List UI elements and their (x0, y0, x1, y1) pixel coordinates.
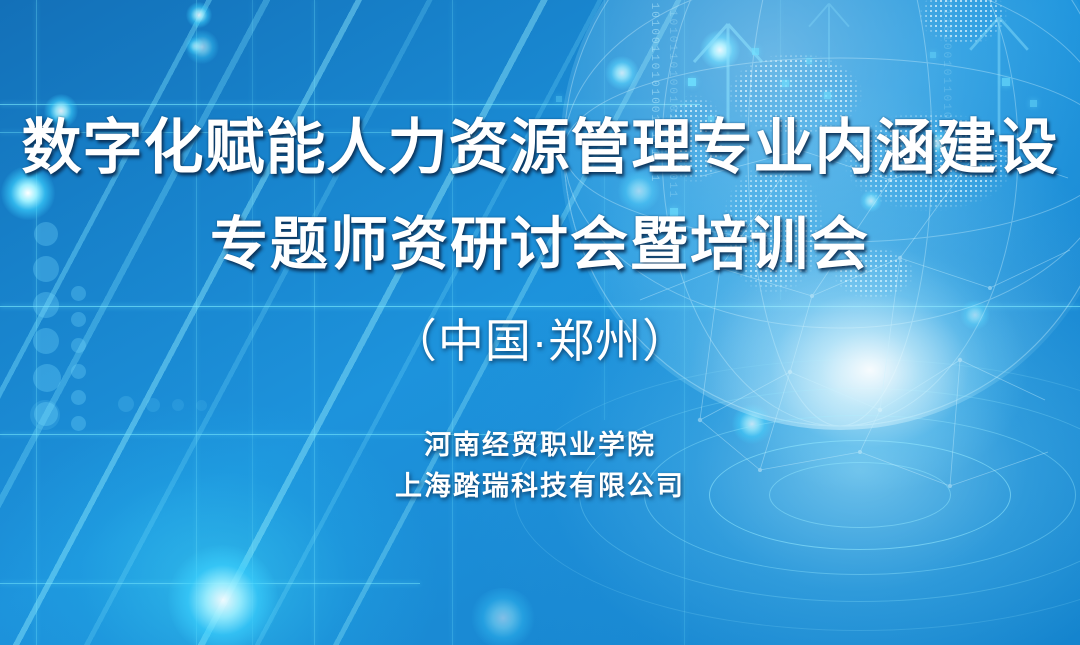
poster-text-content: 数字化赋能人力资源管理专业内涵建设 专题师资研讨会暨培训会 （中国·郑州） 河南… (0, 0, 1080, 645)
conference-poster: 0101001101010010101101 10101101001011010… (0, 0, 1080, 645)
poster-title-line-1: 数字化赋能人力资源管理专业内涵建设 (22, 118, 1059, 178)
organizer-list: 河南经贸职业学院 上海踏瑞科技有限公司 (395, 430, 685, 502)
organizer-name: 上海踏瑞科技有限公司 (395, 471, 685, 502)
organizer-name: 河南经贸职业学院 (424, 430, 656, 461)
poster-title-line-2: 专题师资研讨会暨培训会 (210, 216, 870, 274)
poster-subtitle-location: （中国·郑州） (391, 318, 689, 364)
